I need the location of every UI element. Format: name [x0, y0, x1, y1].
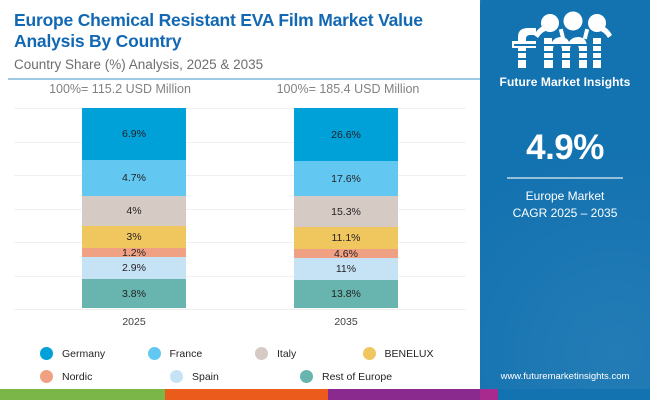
legend-item-spain[interactable]: Spain: [170, 370, 300, 383]
legend-swatch-icon: [148, 347, 161, 360]
legend-label: BENELUX: [385, 348, 434, 360]
bar-segment: 11.1%: [294, 227, 398, 249]
legend-item-rest-of-europe[interactable]: Rest of Europe: [300, 370, 430, 383]
strip-segment-green: [0, 389, 165, 400]
chart-header: Europe Chemical Resistant EVA Film Marke…: [0, 0, 480, 73]
gridline: [14, 309, 466, 310]
legend-label: Germany: [62, 348, 105, 360]
legend-label: Nordic: [62, 371, 92, 383]
page-title: Europe Chemical Resistant EVA Film Marke…: [14, 10, 466, 52]
x-axis-tick-2035: 2035: [294, 316, 398, 328]
bar-segment: 17.6%: [294, 161, 398, 196]
bar-segment: 4.7%: [82, 160, 186, 195]
legend-swatch-icon: [363, 347, 376, 360]
bar-segment: 13.8%: [294, 280, 398, 308]
legend-swatch-icon: [255, 347, 268, 360]
totals-row: 100%= 115.2 USD Million 100%= 185.4 USD …: [0, 82, 480, 104]
legend-item-germany[interactable]: Germany: [40, 347, 148, 360]
cagr-callout: 4.9% Europe Market CAGR 2025 – 2035: [480, 128, 650, 222]
bar-segment: 1.2%: [82, 248, 186, 257]
strip-segment-purple: [328, 389, 480, 400]
bar-segment: 4.6%: [294, 249, 398, 258]
stacked-bar-2035: 26.6%17.6%15.3%11.1%4.6%11%13.8%: [294, 108, 398, 308]
legend-swatch-icon: [300, 370, 313, 383]
strip-segment-blue: [498, 389, 650, 400]
cagr-description-line-2: CAGR 2025 – 2035: [480, 205, 650, 222]
chart-subtitle: Country Share (%) Analysis, 2025 & 2035: [14, 57, 466, 73]
legend-swatch-icon: [170, 370, 183, 383]
legend-label: Italy: [277, 348, 296, 360]
legend-swatch-icon: [40, 370, 53, 383]
header-divider: [8, 78, 480, 80]
strip-segment-orange: [165, 389, 328, 400]
brand-logo: Future Market Insights: [480, 0, 650, 89]
brand-panel: Future Market Insights 4.9% Europe Marke…: [480, 0, 650, 400]
legend-label: France: [170, 348, 203, 360]
legend-swatch-icon: [40, 347, 53, 360]
cagr-value: 4.9%: [480, 128, 650, 168]
legend-item-benelux[interactable]: BENELUX: [363, 347, 471, 360]
chart-infographic: Europe Chemical Resistant EVA Film Marke…: [0, 0, 650, 400]
legend-row: NordicSpainRest of Europe: [40, 365, 470, 388]
cagr-description-line-1: Europe Market: [480, 188, 650, 205]
bar-segment: 3%: [82, 226, 186, 249]
plot-area: 6.9%4.7%4%3%1.2%2.9%3.8% 26.6%17.6%15.3%…: [14, 108, 466, 312]
legend-label: Rest of Europe: [322, 371, 392, 383]
chart-legend: GermanyFranceItalyBENELUXNordicSpainRest…: [40, 342, 470, 388]
bar-segment: 3.8%: [82, 279, 186, 308]
x-axis: 2025 2035: [14, 316, 466, 332]
bar-segment: 4%: [82, 196, 186, 226]
brand-wordmark: Future Market Insights: [480, 75, 650, 89]
legend-label: Spain: [192, 371, 219, 383]
bar-segment: 2.9%: [82, 257, 186, 279]
legend-item-italy[interactable]: Italy: [255, 347, 363, 360]
bar-segment: 26.6%: [294, 108, 398, 161]
bar-segment: 11%: [294, 258, 398, 280]
total-label-2035: 100%= 185.4 USD Million: [248, 82, 448, 96]
legend-item-france[interactable]: France: [148, 347, 256, 360]
website-url: www.futuremarketinsights.com: [480, 371, 650, 382]
legend-row: GermanyFranceItalyBENELUX: [40, 342, 470, 365]
legend-item-nordic[interactable]: Nordic: [40, 370, 170, 383]
bar-segment: 6.9%: [82, 108, 186, 160]
bottom-color-strip: [0, 389, 650, 400]
chart-panel: Europe Chemical Resistant EVA Film Marke…: [0, 0, 480, 400]
x-axis-tick-2025: 2025: [82, 316, 186, 328]
cagr-divider: [507, 177, 623, 179]
bar-segment: 15.3%: [294, 196, 398, 227]
total-label-2025: 100%= 115.2 USD Million: [20, 82, 220, 96]
fmi-logo-icon: [500, 11, 630, 73]
strip-segment-magenta: [480, 389, 498, 400]
stacked-bar-2025: 6.9%4.7%4%3%1.2%2.9%3.8%: [82, 108, 186, 308]
